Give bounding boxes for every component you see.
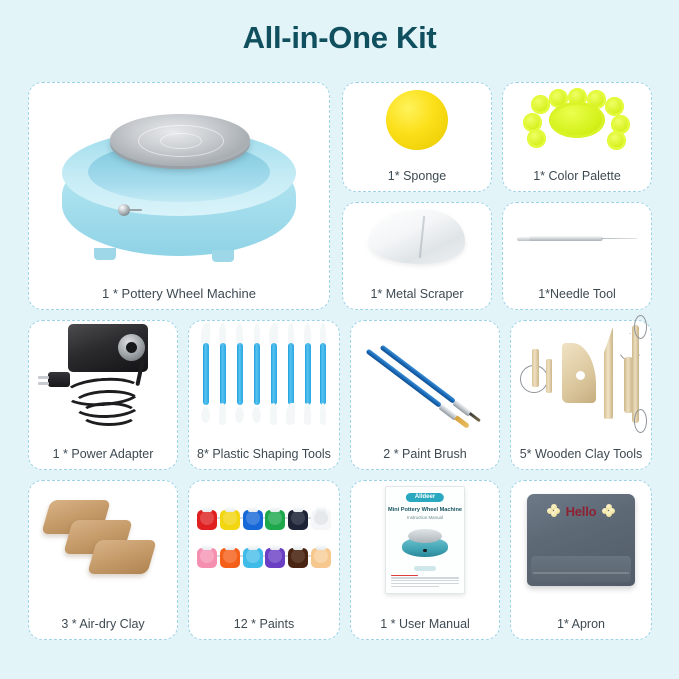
apron-image: Hello [511, 481, 651, 611]
adapter-plug [48, 372, 70, 387]
item-caption: 1 * User Manual [351, 617, 499, 631]
wheel-foot [94, 248, 116, 260]
item-card-plastic-shaping-tools: 8* Plastic Shaping Tools [188, 320, 340, 470]
item-caption: 1* Apron [511, 617, 651, 631]
paint-brush [379, 344, 383, 350]
paint-pot [243, 545, 263, 568]
paint-strip-row [197, 543, 331, 569]
needle-handle [529, 236, 603, 241]
page-title: All-in-One Kit [0, 20, 679, 56]
pottery-wheel-machine-image [29, 83, 329, 281]
palette-well [607, 131, 626, 150]
paint-pot [311, 507, 331, 530]
flower-icon [602, 504, 615, 517]
metal-scraper-image [343, 203, 491, 281]
paint-pot [243, 507, 263, 530]
user-manual-image: Alldeer Mini Pottery Wheel Machine Instr… [351, 481, 499, 611]
paint-brush-image [351, 321, 499, 441]
air-dry-clay-image [29, 481, 177, 611]
apron-pocket [531, 556, 631, 582]
plastic-tool [318, 321, 327, 427]
item-caption: 8* Plastic Shaping Tools [189, 447, 339, 461]
item-card-color-palette: 1* Color Palette [502, 82, 652, 192]
scraper-shape [369, 210, 465, 264]
loop-end [634, 409, 647, 433]
plug-prong [38, 376, 49, 379]
paint-pot [288, 507, 308, 530]
wheel-power-knob [118, 204, 130, 216]
plastic-tool [269, 321, 278, 427]
item-caption: 2 * Paint Brush [351, 447, 499, 461]
paints-image [189, 481, 339, 611]
sponge-shape [386, 90, 448, 150]
plastic-tool [235, 321, 244, 427]
item-card-user-manual: Alldeer Mini Pottery Wheel Machine Instr… [350, 480, 500, 640]
paint-pot [197, 507, 217, 530]
palette-mixing-area [549, 102, 605, 138]
palette-well [531, 95, 550, 114]
item-caption: 1 * Power Adapter [29, 447, 177, 461]
item-caption: 1* Metal Scraper [343, 287, 491, 301]
paint-pot [288, 545, 308, 568]
plastic-tool [201, 321, 210, 427]
item-card-needle-tool: 1*Needle Tool [502, 202, 652, 310]
plug-prong [38, 382, 49, 385]
item-card-metal-scraper: 1* Metal Scraper [342, 202, 492, 310]
manual-product-illustration [402, 527, 448, 557]
item-caption: 5* Wooden Clay Tools [511, 447, 651, 461]
all-in-one-kit-infographic: All-in-One Kit 1 * Pottery Wheel Machine [0, 0, 679, 679]
paint-strip-row [197, 505, 331, 531]
double-ended-loop-tool [632, 325, 639, 423]
wooden-knife-tool [604, 327, 613, 419]
color-palette-image [503, 83, 651, 163]
wooden-clay-tools-image [511, 321, 651, 441]
needle-point [601, 238, 637, 240]
item-card-paints: 12 * Paints [188, 480, 340, 640]
clay-block [87, 540, 157, 574]
plastic-tool [218, 321, 227, 427]
item-caption: 1*Needle Tool [503, 287, 651, 301]
item-card-paint-brush: 2 * Paint Brush [350, 320, 500, 470]
manual-brand-badge: Alldeer [406, 493, 444, 502]
paint-pot [265, 545, 285, 568]
paint-pot [220, 507, 240, 530]
item-caption: 1 * Pottery Wheel Machine [29, 286, 329, 301]
plastic-tool [286, 321, 295, 427]
paint-pot [220, 545, 240, 568]
item-caption: 1* Color Palette [503, 169, 651, 183]
item-card-apron: Hello 1* Apron [510, 480, 652, 640]
item-card-air-dry-clay: 3 * Air-dry Clay [28, 480, 178, 640]
adapter-cord [80, 402, 138, 426]
power-adapter-image [29, 321, 177, 441]
paint-brush [365, 348, 369, 354]
item-caption: 3 * Air-dry Clay [29, 617, 177, 631]
apron-hello-text: Hello [527, 504, 635, 519]
wheel-metal-disc [110, 114, 250, 166]
adapter-speed-dial [118, 334, 145, 361]
manual-footer-pill [414, 566, 436, 571]
manual-title: Mini Pottery Wheel Machine [386, 507, 464, 513]
item-card-wooden-clay-tools: 5* Wooden Clay Tools [510, 320, 652, 470]
item-caption: 1* Sponge [343, 169, 491, 183]
paint-pot [265, 507, 285, 530]
palette-well [527, 129, 546, 148]
sponge-image [343, 83, 491, 163]
wire-cutter-handle [546, 359, 552, 393]
wire-cutter-handle [532, 349, 539, 387]
rib-tool-hole [576, 371, 585, 380]
needle-tool-image [503, 203, 651, 281]
item-caption: 12 * Paints [189, 617, 339, 631]
manual-subtitle: Instruction Manual [386, 515, 464, 520]
paint-pot [197, 545, 217, 568]
loop-end [634, 315, 647, 339]
palette-well [605, 97, 624, 116]
item-card-sponge: 1* Sponge [342, 82, 492, 192]
plastic-tool [252, 321, 261, 427]
wheel-foot [212, 250, 234, 262]
item-card-pottery-wheel-machine: 1 * Pottery Wheel Machine [28, 82, 330, 310]
paint-pot [311, 545, 331, 568]
manual-text-lines [391, 575, 459, 589]
plastic-shaping-tools-image [189, 321, 339, 441]
plastic-tool [303, 321, 312, 427]
item-card-power-adapter: 1 * Power Adapter [28, 320, 178, 470]
